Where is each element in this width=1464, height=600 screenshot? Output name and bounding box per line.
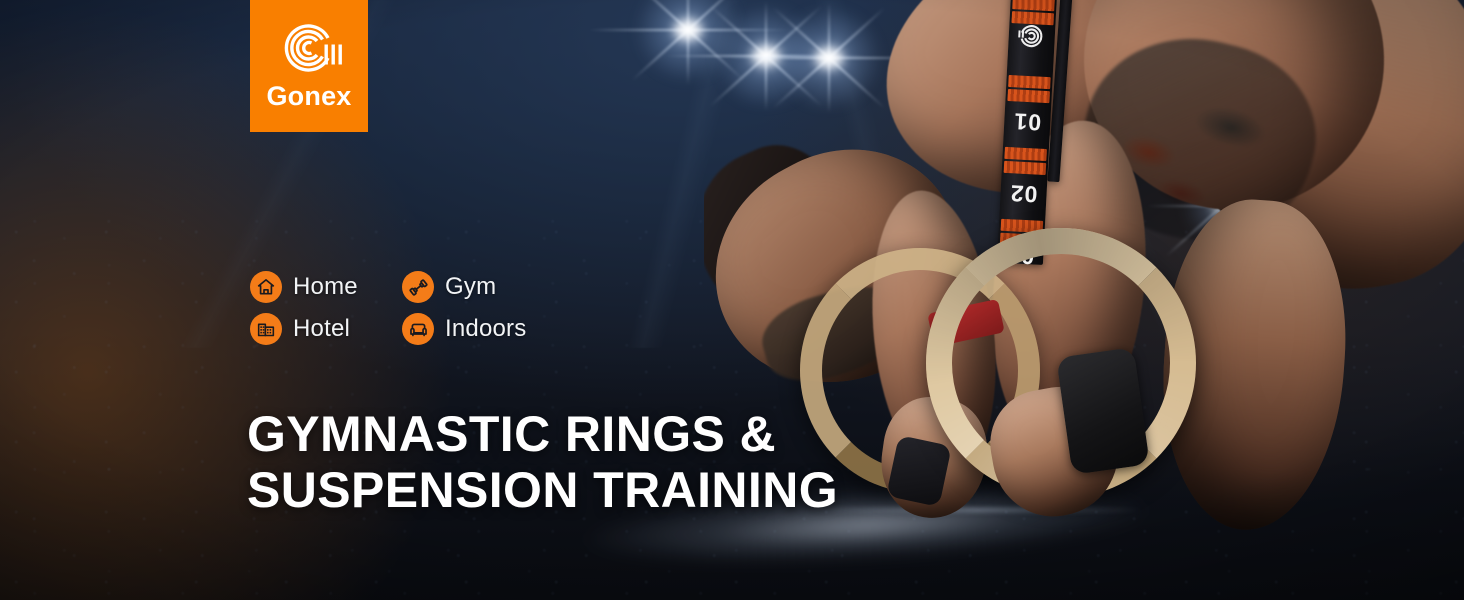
feature-label: Hotel [293,317,350,341]
building-icon [250,313,282,345]
page-title: GYMNASTIC RINGS & SUSPENSION TRAINING [247,406,838,518]
headline-line-2: SUSPENSION TRAINING [247,462,838,518]
hero-banner: 01 02 03 [0,0,1464,600]
feature-item-indoors[interactable]: Indoors [402,308,526,350]
feature-item-hotel[interactable]: Hotel [250,308,402,350]
feature-label: Home [293,275,358,299]
feature-list: Home Gym [250,266,526,350]
dumbbell-icon [402,271,434,303]
feature-item-gym[interactable]: Gym [402,266,526,308]
headline-line-1: GYMNASTIC RINGS & [247,406,838,462]
home-icon [250,271,282,303]
feature-label: Indoors [445,317,526,341]
feature-item-home[interactable]: Home [250,266,402,308]
brand-name: Gonex [266,83,351,110]
brand-logo[interactable]: Gonex [250,0,368,132]
gonex-g-monogram-icon [272,16,346,78]
armchair-icon [402,313,434,345]
feature-label: Gym [445,275,496,299]
